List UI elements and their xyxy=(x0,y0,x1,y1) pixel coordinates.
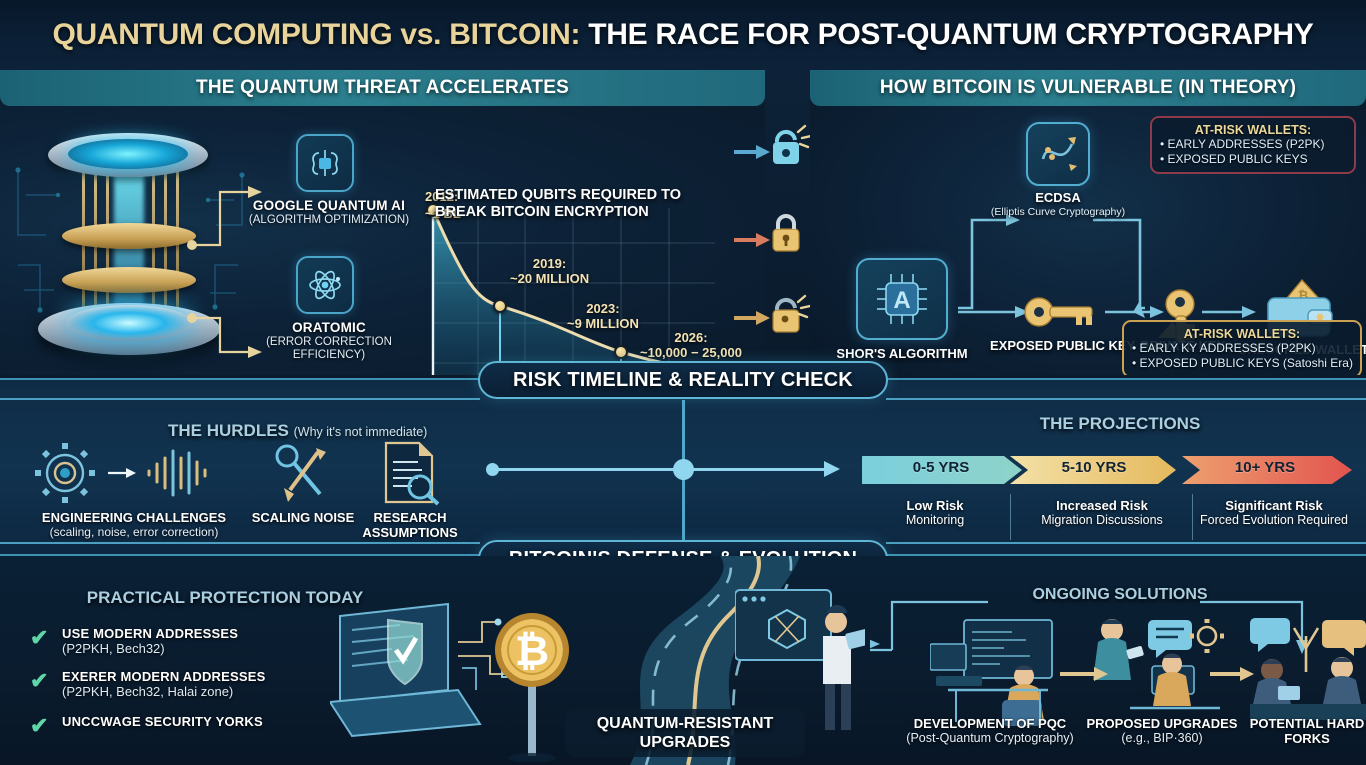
flow-label-ecdsa: ECDSA (Elliptis Curve Cryptography) xyxy=(988,190,1128,220)
risk-box-top: AT-RISK WALLETS: • EARLY ADDRESSES (P2PK… xyxy=(1150,116,1356,174)
chart-label-2026: 2026: ~10,000 − 25,000 xyxy=(640,330,742,360)
timeline-arrow-icon xyxy=(824,456,864,480)
projection-range-2-text: 10+ YRS xyxy=(1235,459,1295,476)
research-document-icon xyxy=(378,440,444,506)
key-icon xyxy=(1022,292,1098,337)
check-icon-2: ✔ xyxy=(30,671,52,691)
gear-waveform-icon xyxy=(34,442,234,504)
projection-action-0: Monitoring xyxy=(906,513,964,527)
projection-caption-1: Increased Risk Migration Discussions xyxy=(1014,498,1190,528)
chart-label-2023: 2023: ~9 MILLION xyxy=(567,301,639,331)
flow-label-shors-text: SHOR'S ALGORITHM xyxy=(836,346,967,361)
hurdle-label-1: ENGINEERING CHALLENGES (scaling, noise, … xyxy=(14,510,254,540)
title-white: THE RACE FOR POST-QUANTUM CRYPTOGRAPHY xyxy=(588,18,1313,51)
accelerator-title-2: ORATOMIC xyxy=(234,320,424,335)
base-energy-glow xyxy=(66,305,192,341)
projection-action-2: Forced Evolution Required xyxy=(1200,513,1348,527)
arrow-red xyxy=(734,233,770,247)
projection-range-1-text: 5-10 YRS xyxy=(1062,459,1127,476)
projection-risk-2: Significant Risk xyxy=(1196,498,1352,513)
chart-label-2026-value: ~10,000 − 25,000 xyxy=(640,345,742,360)
risk-box-bottom-title: AT-RISK WALLETS: xyxy=(1132,327,1352,341)
risk-box-top-title: AT-RISK WALLETS: xyxy=(1160,123,1346,137)
elliptic-curve-icon xyxy=(1026,122,1090,186)
solution-label-3-text: POTENTIAL HARD FORKS xyxy=(1250,716,1365,746)
hurdle-label-2-text: SCALING NOISE xyxy=(252,510,355,525)
svg-text:A: A xyxy=(893,287,910,314)
accelerator-sub-2: (ERROR CORRECTION EFFICIENCY) xyxy=(234,336,424,362)
quantum-computer-illustration xyxy=(10,115,250,360)
hurdles-heading: THE HURDLES (Why it's not immediate) xyxy=(168,421,427,441)
infographic-canvas: QUANTUM COMPUTING vs. BITCOIN: THE RACE … xyxy=(0,0,1366,765)
solution-label-2-sub: (e.g., BIP·360) xyxy=(1072,731,1252,746)
arrow-upgrades-to-forks xyxy=(1210,667,1254,681)
risk-box-top-item-1: • EARLY ADDRESSES (P2PK) xyxy=(1160,137,1346,152)
projection-range-2: 10+ YRS xyxy=(1190,452,1340,482)
projection-action-1: Migration Discussions xyxy=(1041,513,1163,527)
solution-arrows xyxy=(1060,664,1260,684)
solution-label-1: DEVELOPMENT OF PQC (Post-Quantum Cryptog… xyxy=(890,716,1090,746)
timeline-horizontal-line xyxy=(492,468,836,471)
gold-stage-ring-2 xyxy=(62,267,196,293)
flow-label-shors: SHOR'S ALGORITHM xyxy=(832,346,972,361)
chart-point-2023 xyxy=(614,345,628,359)
projection-range-0: 0-5 YRS xyxy=(866,452,1016,482)
accelerator-sub-1: (ALGORITHM OPTIMIZATION) xyxy=(234,214,424,227)
hurdles-heading-text: THE HURDLES xyxy=(168,421,289,440)
chart-point-2019 xyxy=(493,299,507,313)
pqc-development-illustration xyxy=(930,618,1080,728)
scaling-noise-icon xyxy=(272,442,334,506)
qubits-decay-chart: 2012: ~1 BL ESTIMATED QUBITS REQUIRED TO… xyxy=(415,188,735,375)
projection-caption-0: Low Risk Monitoring xyxy=(862,498,1008,528)
timeline-dot-mid xyxy=(673,459,694,480)
solution-label-2-text: PROPOSED UPGRADES xyxy=(1087,716,1238,731)
brain-chip-icon xyxy=(296,134,354,192)
page-title: QUANTUM COMPUTING vs. BITCOIN: THE RACE … xyxy=(0,0,1366,70)
timeline-dot-start xyxy=(486,463,499,476)
chart-label-2019: 2019: ~20 MILLION xyxy=(510,256,589,286)
pill-risk-timeline-label: RISK TIMELINE & REALITY CHECK xyxy=(513,369,853,392)
hurdle-label-3: RESEARCH ASSUMPTIONS xyxy=(350,510,470,540)
hurdle-label-2: SCALING NOISE xyxy=(248,510,358,525)
projections-heading-text: THE PROJECTIONS xyxy=(1040,414,1201,433)
atom-icon xyxy=(296,256,354,314)
risk-box-bottom-item-2: • EXPOSED PUBLIC KEYS (Satoshi Era) xyxy=(1132,356,1352,371)
projection-range-1: 5-10 YRS xyxy=(1014,452,1174,482)
title-gold: QUANTUM COMPUTING vs. BITCOIN: xyxy=(52,18,580,51)
chart-label-2026-year: 2026: xyxy=(674,330,707,345)
hurdles-heading-sub: (Why it's not immediate) xyxy=(294,425,428,439)
svg-text:₿: ₿ xyxy=(515,627,549,674)
chart-label-2023-value: ~9 MILLION xyxy=(567,316,639,331)
projection-range-0-text: 0-5 YRS xyxy=(913,459,969,476)
hurdle-label-1-text: ENGINEERING CHALLENGES xyxy=(42,510,226,525)
checklist-item-1-sub: (P2PKH, Bech32) xyxy=(62,641,165,656)
flow-label-exposed-public-key: EXPOSED PUBLIC KEY xyxy=(990,338,1130,353)
panel-bitcoin-vulnerable: HOW BITCOIN IS VULNERABLE (IN THEORY) xyxy=(810,70,1366,375)
analyst-dashboard-illustration xyxy=(735,586,865,731)
solution-label-2: PROPOSED UPGRADES (e.g., BIP·360) xyxy=(1072,716,1252,746)
check-icon-1: ✔ xyxy=(30,628,52,648)
solution-label-1-text: DEVELOPMENT OF PQC xyxy=(914,716,1066,731)
chart-label-2019-year: 2019: xyxy=(533,256,566,271)
risk-box-bottom-item-1: • EARLY ΚY ADDRESSES (P2PK) xyxy=(1132,341,1352,356)
accelerator-label-2: ORATOMIC (ERROR CORRECTION EFFICIENCY) xyxy=(234,320,424,362)
laptop-shield-illustration xyxy=(330,598,520,738)
checklist-item-1-title: USE MODERN ADDRESSES xyxy=(62,626,238,641)
risk-box-bottom: AT-RISK WALLETS: • EARLY ΚY ADDRESSES (P… xyxy=(1122,320,1362,375)
chart-label-2023-year: 2023: xyxy=(586,301,619,316)
projection-caption-2: Significant Risk Forced Evolution Requir… xyxy=(1196,498,1352,528)
bitcoin-road-sign: ₿ xyxy=(495,612,571,765)
projection-risk-0: Low Risk xyxy=(862,498,1008,513)
check-icon-3: ✔ xyxy=(30,716,52,736)
projections-heading: THE PROJECTIONS xyxy=(1020,414,1220,434)
panel-quantum-threat: THE QUANTUM THREAT ACCELERATES xyxy=(0,70,765,375)
checklist-item-2-title: EXERER MODERN ADDRESSES xyxy=(62,669,266,684)
checklist-item-3-title: UNCCWAGE SECURITY ΥORKS xyxy=(62,714,263,729)
cpu-chip-a-icon: A xyxy=(856,258,948,340)
chart-title: ESTIMATED QUBITS REQUIRED TO BREAK BITCO… xyxy=(435,187,735,221)
cryostat-core-glow xyxy=(68,139,188,169)
banner-quantum-threat-label: THE QUANTUM THREAT ACCELERATES xyxy=(196,77,569,99)
flow-label-ecdsa-text: ECDSA xyxy=(1035,190,1081,205)
chart-label-2019-value: ~20 MILLION xyxy=(510,271,589,286)
pill-risk-timeline: RISK TIMELINE & REALITY CHECK xyxy=(478,361,888,399)
solution-label-3: POTENTIAL HARD FORKS xyxy=(1248,716,1366,746)
solution-label-1-sub: (Post-Quantum Cryptography) xyxy=(890,731,1090,746)
flow-sub-ecdsa: (Elliptis Curve Cryptography) xyxy=(988,205,1128,220)
gold-stage-ring-1 xyxy=(62,223,196,249)
hurdle-label-3-text: RESEARCH ASSUMPTIONS xyxy=(362,510,457,540)
accelerator-title-1: GOOGLE QUANTUM AI xyxy=(234,198,424,213)
projection-risk-1: Increased Risk xyxy=(1014,498,1190,513)
arrow-dev-to-upgrades xyxy=(1060,667,1108,681)
hard-forks-illustration xyxy=(1250,614,1366,728)
banner-quantum-threat: THE QUANTUM THREAT ACCELERATES xyxy=(0,70,765,106)
flow-label-exposed-public-key-text: EXPOSED PUBLIC KEY xyxy=(990,338,1135,353)
risk-box-top-item-2: • EXPOSED PUBLIC KEYS xyxy=(1160,152,1346,167)
band-bitcoin-defense: PRACTICAL PROTECTION TODAY ✔ USE MODERN … xyxy=(0,556,1366,765)
checklist-item-2-sub: (P2PKH, Bech32, Halai zone) xyxy=(62,684,233,699)
accelerator-label-1: GOOGLE QUANTUM AI (ALGORITHM OPTIMIZATIO… xyxy=(234,198,424,227)
hurdle-label-1-sub: (scaling, noise, error correction) xyxy=(14,525,254,540)
